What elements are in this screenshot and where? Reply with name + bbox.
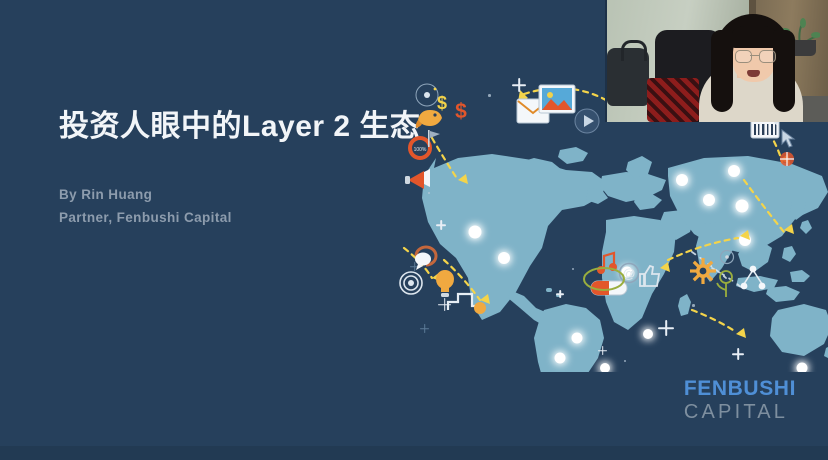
svg-text:$: $ (455, 100, 467, 123)
circuit-icon (446, 290, 488, 316)
webcam-presenter-bangs (729, 26, 779, 48)
cursor-icon (778, 128, 798, 150)
compass-icon (778, 150, 796, 168)
radar-icon (414, 82, 440, 108)
fenbushi-capital-logo: FENBUSHI CAPITAL (684, 378, 796, 424)
dollar-sign-icon: $ (452, 98, 470, 124)
megaphone-icon (404, 166, 434, 190)
webcam-presenter-mouth (747, 70, 760, 77)
bird-icon (414, 106, 444, 130)
ring-icon (582, 266, 626, 292)
webcam-red-fabric (647, 78, 699, 122)
brand-name-primary: FENBUSHI (684, 378, 796, 400)
presentation-screen: 投资人眼中的Layer 2 生态 By Rin Huang Partner, F… (0, 0, 828, 460)
slide-bottom-band (0, 446, 828, 460)
webcam-presenter-hair-right (773, 30, 795, 112)
brand-name-secondary: CAPITAL (684, 401, 796, 424)
thumbs-up-icon (638, 264, 662, 288)
map-speck (428, 192, 430, 194)
play-button-icon (574, 108, 600, 134)
webcam-glasses-left-lens (735, 50, 752, 63)
sun-icon (718, 248, 736, 266)
target-icon (398, 270, 424, 296)
webcam-presenter-hair-left (711, 30, 733, 112)
presenter-webcam-feed[interactable] (605, 0, 828, 122)
flower-icon (714, 268, 738, 298)
map-landmasses (422, 147, 828, 372)
webcam-glasses-bridge (750, 55, 759, 56)
svg-text:100%: 100% (414, 147, 427, 153)
webcam-glasses-right-lens (759, 50, 776, 63)
gear-icon (690, 258, 716, 284)
flag-icon (426, 128, 442, 148)
webcam-bag-strap (621, 40, 647, 61)
map-speck (488, 94, 491, 97)
map-speck (572, 268, 574, 270)
map-speck (624, 360, 626, 362)
map-speck (692, 304, 695, 307)
network-nodes-icon (738, 264, 768, 292)
speech-bubble-icon (410, 242, 440, 270)
photo-icon (538, 84, 576, 114)
